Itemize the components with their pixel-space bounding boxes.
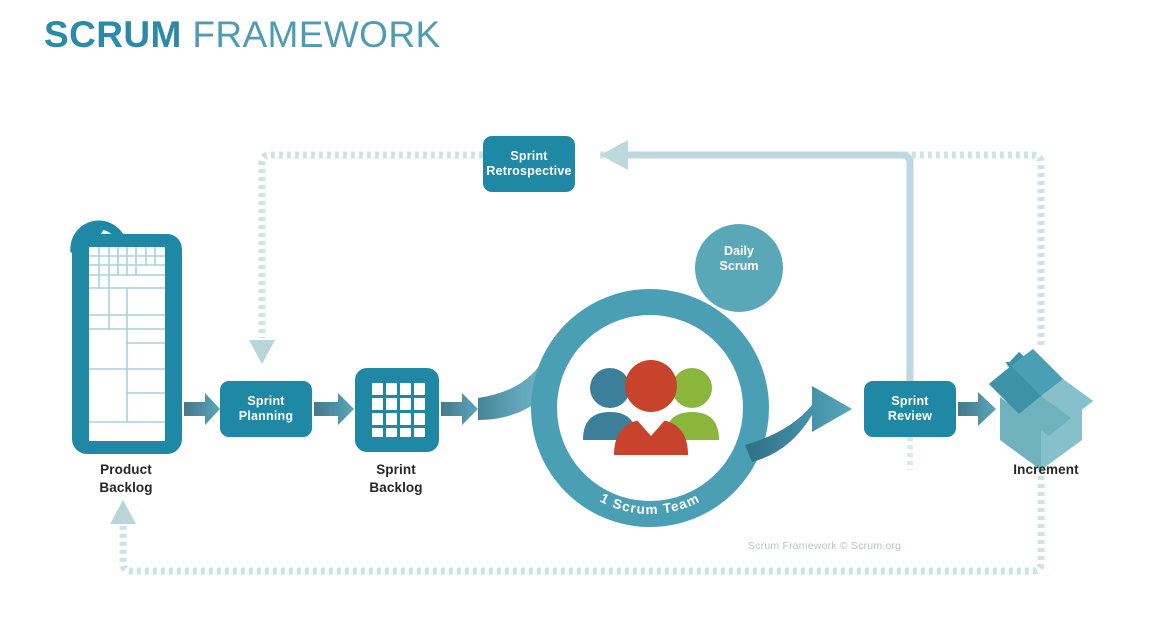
arrow-planning-to-sprint-backlog (314, 393, 354, 425)
arrow-review-to-increment (958, 392, 996, 426)
increment-label: Increment (976, 461, 1116, 479)
daily-scrum-bubble (695, 224, 783, 312)
sprint-backlog-icon (355, 368, 439, 452)
sprint-review-label: Sprint Review (888, 394, 932, 424)
product-backlog-icon (72, 218, 182, 454)
loop-bottom-arrowhead (110, 500, 136, 524)
credit-text: Scrum Framework © Scrum.org (748, 540, 901, 552)
arrow-backlog-to-planning (184, 393, 220, 425)
arrow-shape (184, 393, 220, 425)
arrow-shape (314, 393, 354, 425)
loop-retrospective-to-planning (249, 155, 483, 364)
product-backlog-label: Product Backlog (56, 461, 196, 496)
loop-increment-top-dashed (600, 155, 1041, 345)
review-to-retro-arrowhead (600, 140, 628, 170)
daily-scrum-circle (695, 224, 783, 312)
sprint-retrospective-box[interactable]: Sprint Retrospective (483, 136, 575, 192)
arrow-shape (958, 392, 996, 426)
sprint-planning-label: Sprint Planning (239, 394, 293, 424)
arrow-shape (441, 393, 478, 425)
sprint-retrospective-label: Sprint Retrospective (486, 149, 571, 179)
retro-to-planning-dashed-line (262, 155, 483, 338)
scrum-team-people (583, 360, 719, 455)
diagram-canvas: 1 Scrum Team (0, 0, 1150, 618)
sprint-review-box[interactable]: Sprint Review (864, 381, 956, 437)
increment-box-icon (989, 349, 1093, 470)
retro-to-planning-arrowhead (249, 340, 275, 364)
scrum-framework-diagram: SCRUM FRAMEWORK (0, 0, 1150, 618)
loop-bottom-dashed-line (123, 452, 1041, 571)
loop-right-dashed-line (600, 155, 1041, 345)
sprint-backlog-label: Sprint Backlog (326, 461, 466, 496)
sprint-planning-box[interactable]: Sprint Planning (220, 381, 312, 437)
person-red-icon (614, 360, 688, 455)
